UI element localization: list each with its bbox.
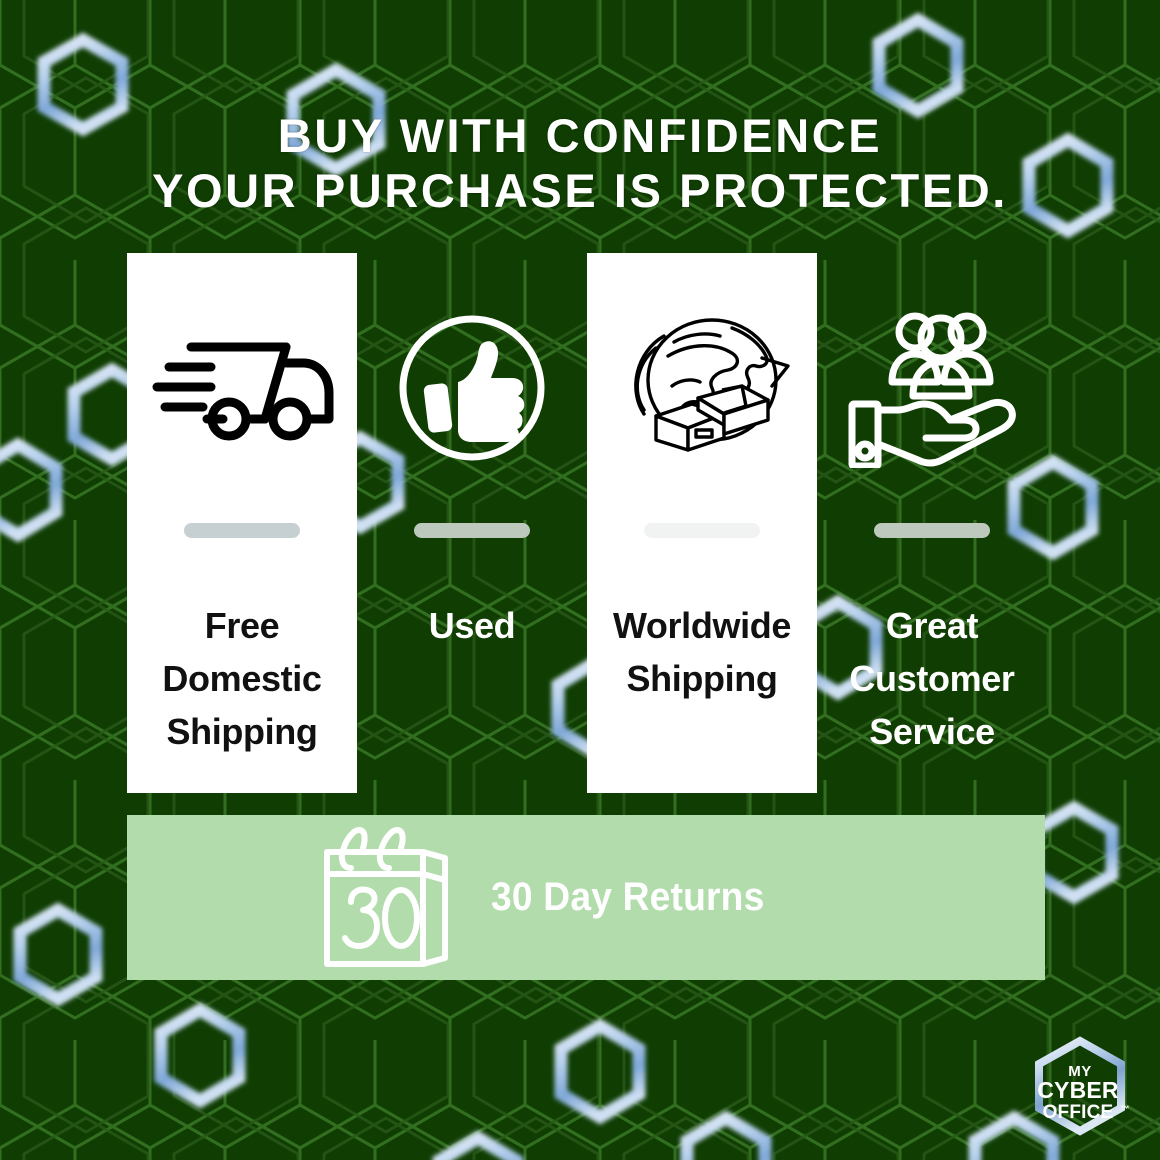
feature-card-label: Free Domestic Shipping: [156, 600, 327, 759]
label-line: Free: [162, 600, 321, 653]
headline: BUY WITH CONFIDENCE YOUR PURCHASE IS PRO…: [0, 112, 1160, 214]
feature-card-label: Used: [423, 600, 522, 653]
label-line: Shipping: [613, 653, 791, 706]
feature-card-free-domestic-shipping[interactable]: Free Domestic Shipping: [127, 253, 357, 793]
brand-logo[interactable]: MY CYBER OFFICE ™: [1022, 1034, 1138, 1138]
feature-card-great-customer-service[interactable]: Great Customer Service: [817, 253, 1047, 793]
returns-banner[interactable]: 30 Day Returns: [127, 815, 1045, 980]
thumbs-up-circle-icon: [392, 253, 552, 523]
feature-card-label: Worldwide Shipping: [607, 600, 797, 706]
label-line: Used: [429, 600, 516, 653]
logo-line-3: OFFICE: [1043, 1102, 1114, 1123]
label-line: Customer: [849, 653, 1014, 706]
logo-line-2: CYBER: [1037, 1077, 1119, 1103]
label-line: Shipping: [162, 706, 321, 759]
label-line: Great: [849, 600, 1014, 653]
feature-card-used[interactable]: Used: [357, 253, 587, 793]
label-line: Domestic: [162, 653, 321, 706]
globe-packages-icon: [612, 253, 792, 523]
hand-holding-people-icon: [842, 253, 1022, 523]
feature-card-worldwide-shipping[interactable]: Worldwide Shipping: [587, 253, 817, 793]
feature-card-row: Free Domestic Shipping Used: [127, 253, 1047, 793]
card-divider: [874, 523, 990, 538]
card-divider: [414, 523, 530, 538]
card-divider: [184, 523, 300, 538]
calendar-30-icon: [307, 818, 455, 973]
promo-banner-canvas: BUY WITH CONFIDENCE YOUR PURCHASE IS PRO…: [0, 0, 1160, 1160]
delivery-truck-icon: [147, 253, 337, 523]
headline-line-2: YOUR PURCHASE IS PROTECTED.: [0, 167, 1160, 214]
feature-card-label: Great Customer Service: [843, 600, 1020, 759]
card-divider: [644, 523, 760, 538]
label-line: Service: [849, 706, 1014, 759]
label-line: Worldwide: [613, 600, 791, 653]
logo-trademark: ™: [1121, 1104, 1130, 1114]
headline-line-1: BUY WITH CONFIDENCE: [0, 112, 1160, 159]
returns-banner-label: 30 Day Returns: [491, 875, 764, 920]
